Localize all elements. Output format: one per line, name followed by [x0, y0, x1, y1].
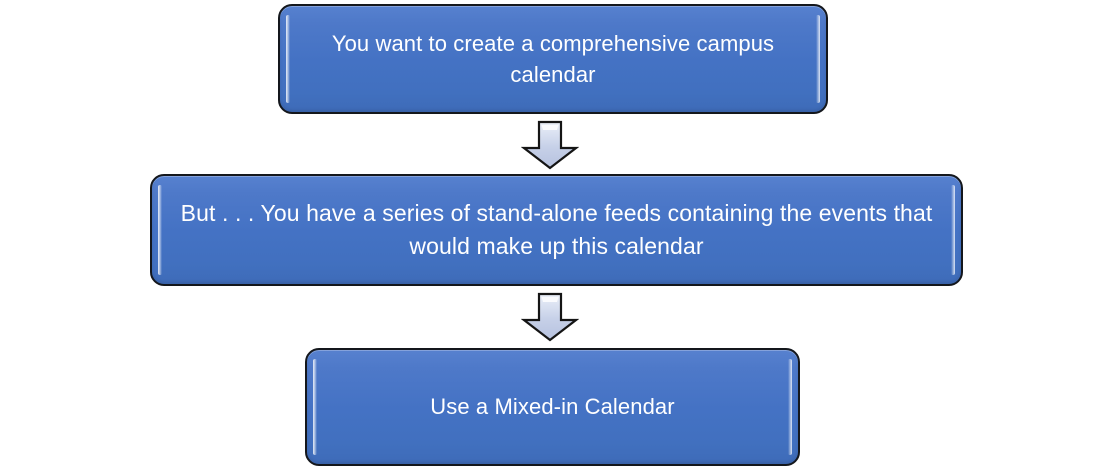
solution-box-label: Use a Mixed-in Calendar [414, 391, 690, 422]
problem-obstacle-box[interactable]: But . . . You have a series of stand-alo… [150, 174, 963, 286]
solution-box[interactable]: Use a Mixed-in Calendar [305, 348, 800, 466]
down-arrow-icon [521, 120, 579, 170]
down-arrow-icon [521, 292, 579, 342]
problem-goal-box[interactable]: You want to create a comprehensive campu… [278, 4, 828, 114]
down-arrow-glyph [521, 120, 579, 170]
flowchart-canvas: You want to create a comprehensive campu… [0, 0, 1104, 464]
problem-obstacle-box-label: But . . . You have a series of stand-alo… [152, 197, 961, 262]
problem-goal-box-label: You want to create a comprehensive campu… [280, 28, 826, 90]
down-arrow-glyph [521, 292, 579, 342]
